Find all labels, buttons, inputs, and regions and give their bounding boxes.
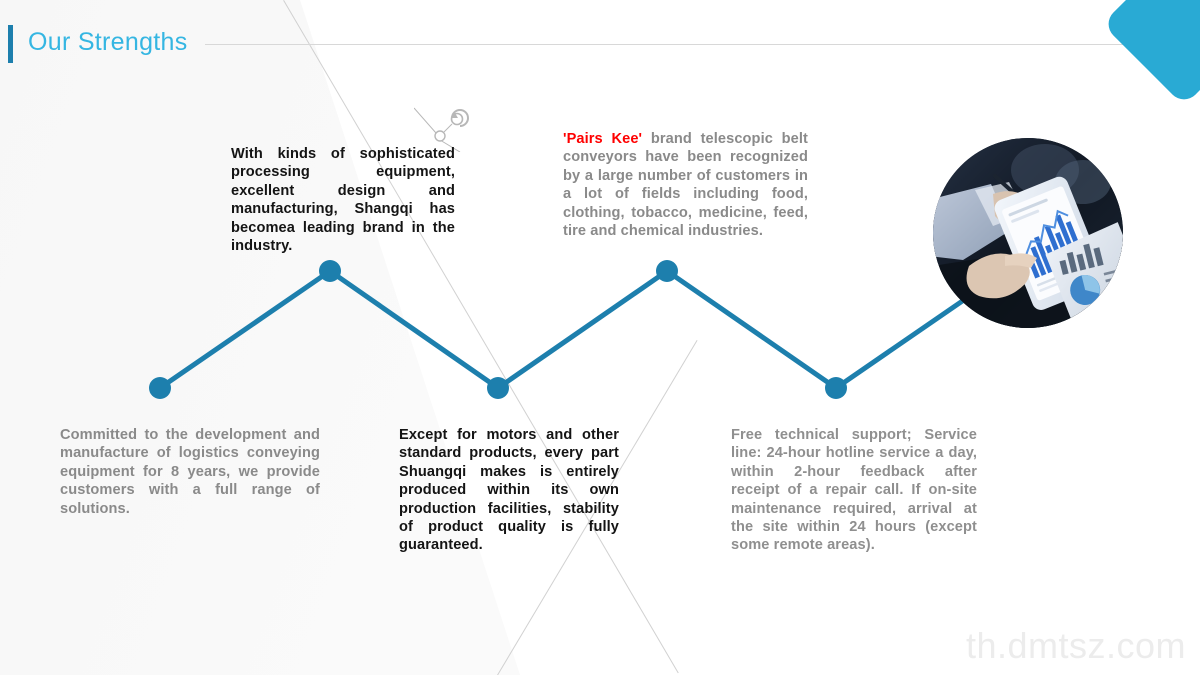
slide-root: Our Strengths [0,0,1200,675]
header-divider-rule [205,44,1134,45]
callout-text-point-3: Except for motors and other standard pro… [399,426,619,555]
callout-text-point-2: With kinds of sophisticated processing e… [231,145,455,255]
brand-name-highlight: 'Pairs Kee' [563,131,642,147]
callout-text-point-1: Committed to the development and manufac… [60,426,320,518]
business-analytics-photo [933,138,1123,328]
title-accent-bar [8,25,13,63]
callout-text-point-4: 'Pairs Kee' brand telescopic belt convey… [563,130,808,240]
callout-point-4-body: brand telescopic belt conveyors have bee… [563,131,808,239]
callout-text-point-5: Free technical support; Service line: 24… [731,426,977,555]
photo-artwork [933,138,1123,328]
page-title: Our Strengths [28,28,188,57]
site-watermark: th.dmtsz.com [966,625,1186,667]
